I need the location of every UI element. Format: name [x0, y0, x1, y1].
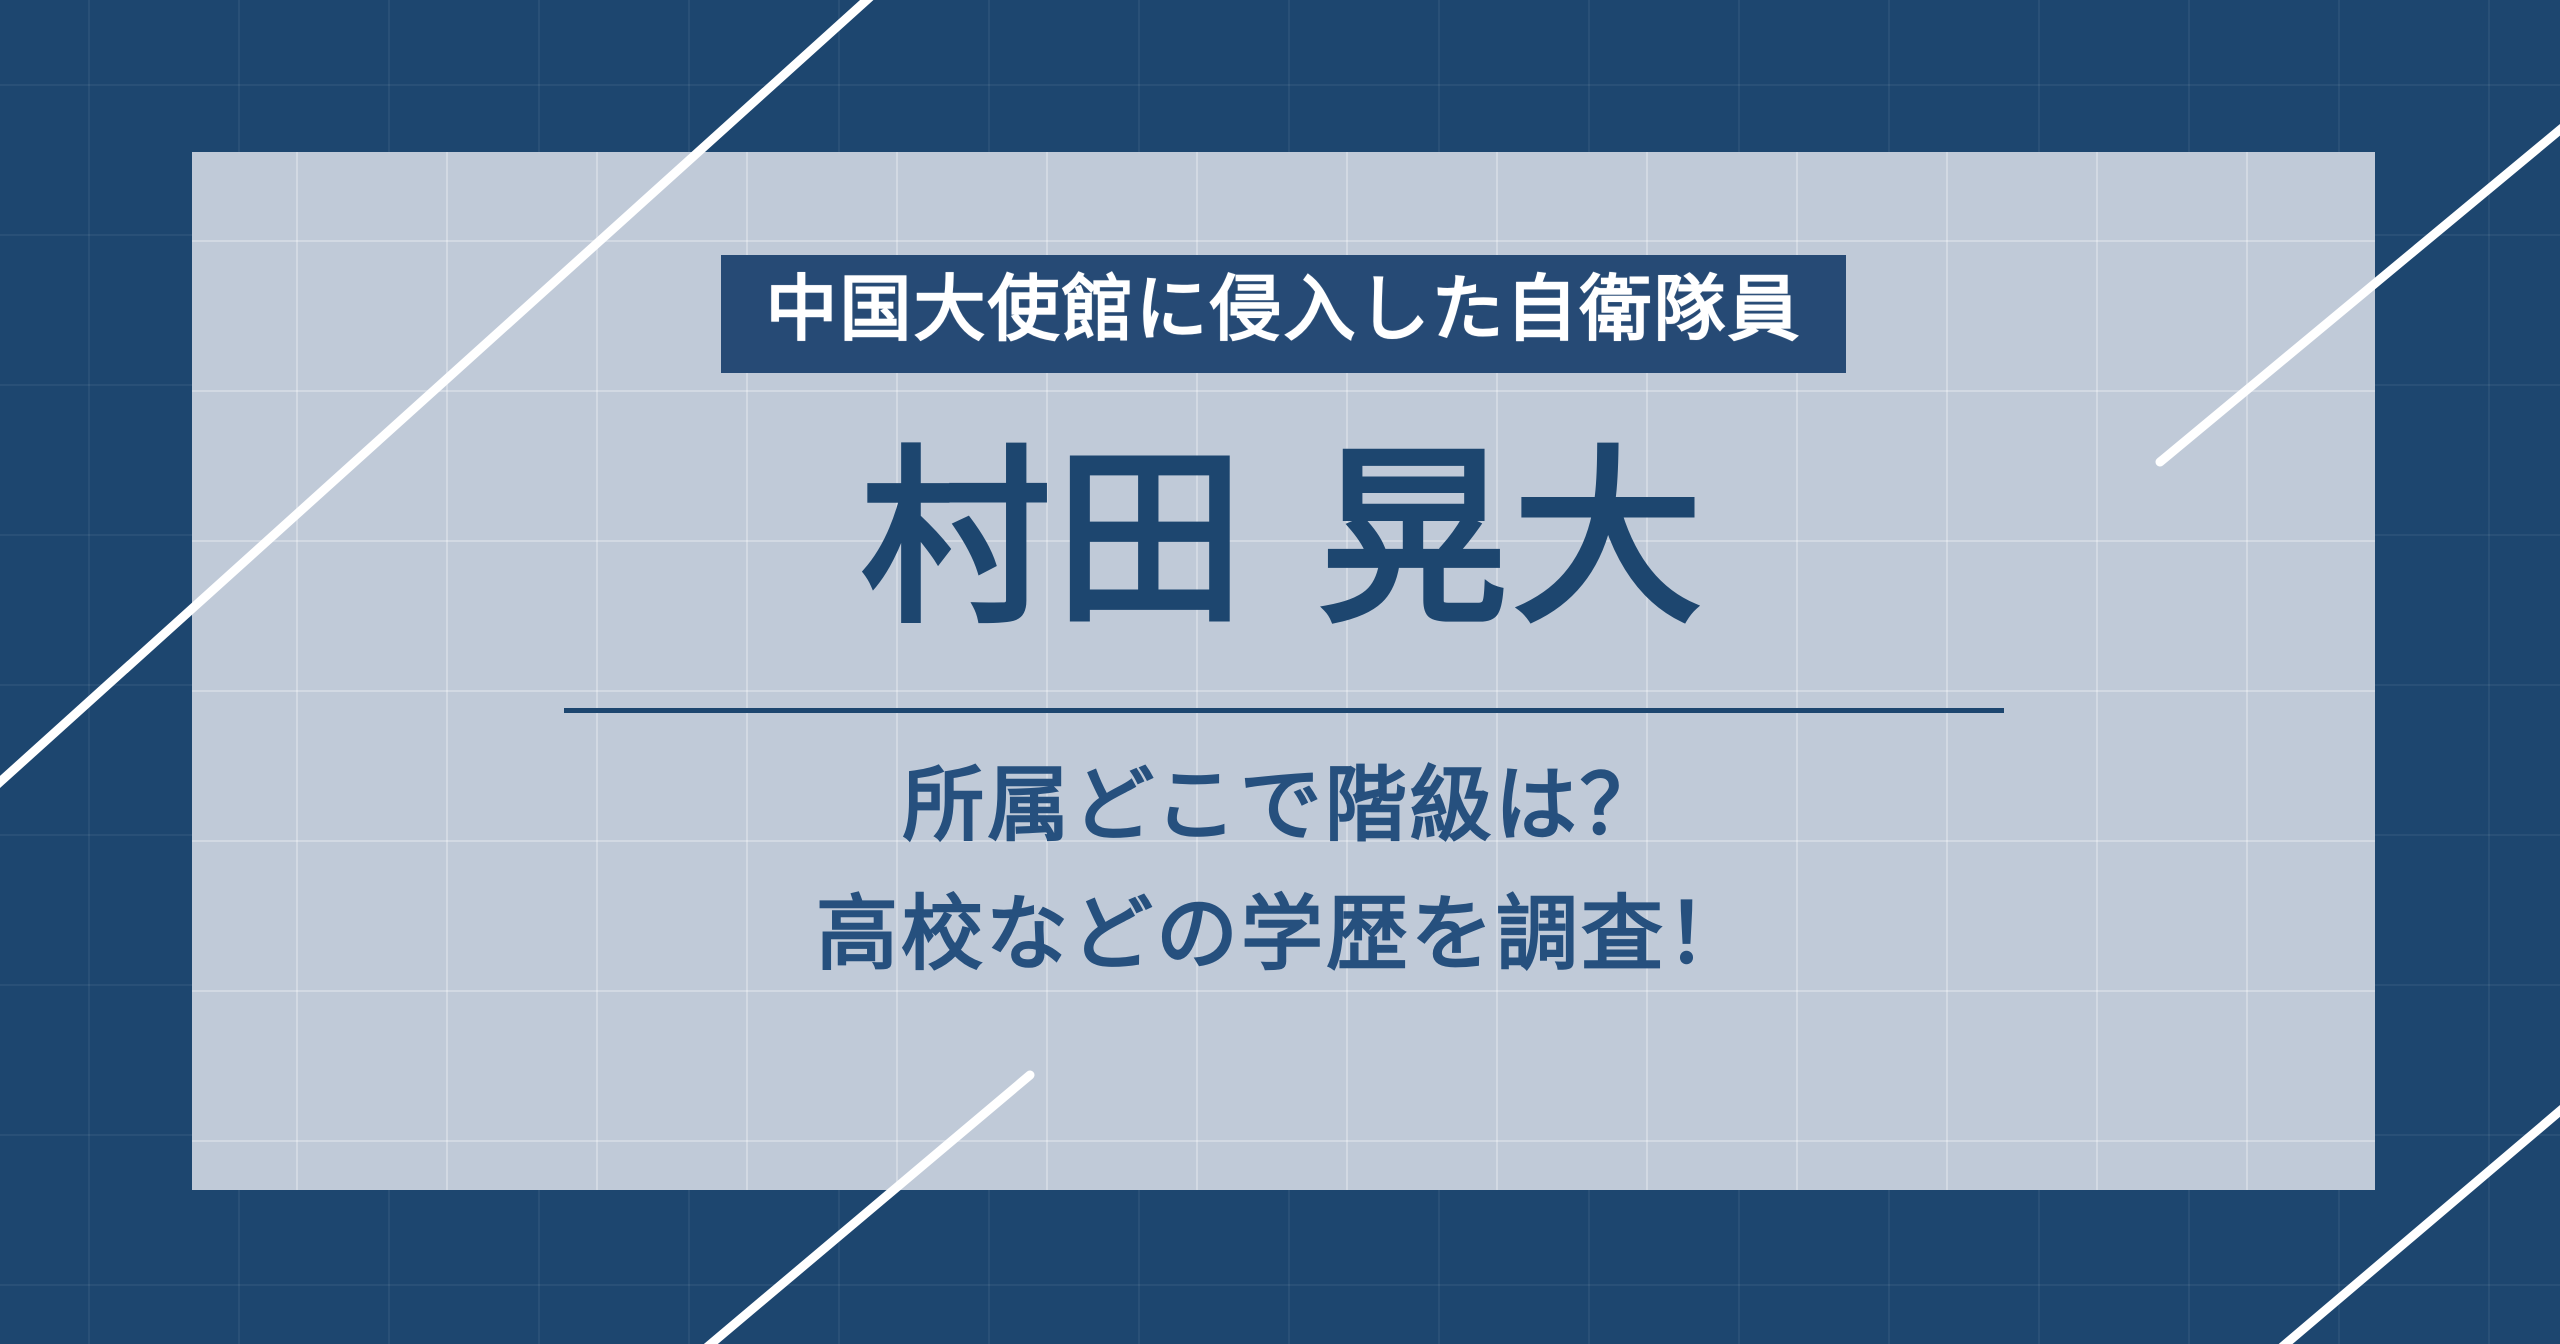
thumbnail-canvas: 中国大使館に侵入した自衛隊員 村田 晃大 所属どこで階級は？ 高校などの学歴を調…	[0, 0, 2560, 1344]
subtitle-line-1: 所属どこで階級は？	[902, 755, 1665, 858]
content-column: 中国大使館に侵入した自衛隊員 村田 晃大 所属どこで階級は？ 高校などの学歴を調…	[192, 152, 2375, 1190]
eyebrow-text: 中国大使館に侵入した自衛隊員	[765, 263, 1801, 357]
eyebrow-band: 中国大使館に侵入した自衛隊員	[721, 255, 1845, 373]
subtitle-line-2: 高校などの学歴を調査！	[816, 884, 1751, 987]
subtitle-block: 所属どこで階級は？ 高校などの学歴を調査！	[816, 755, 1751, 986]
person-name-title: 村田 晃大	[860, 421, 1706, 659]
horizontal-divider	[564, 708, 2004, 713]
